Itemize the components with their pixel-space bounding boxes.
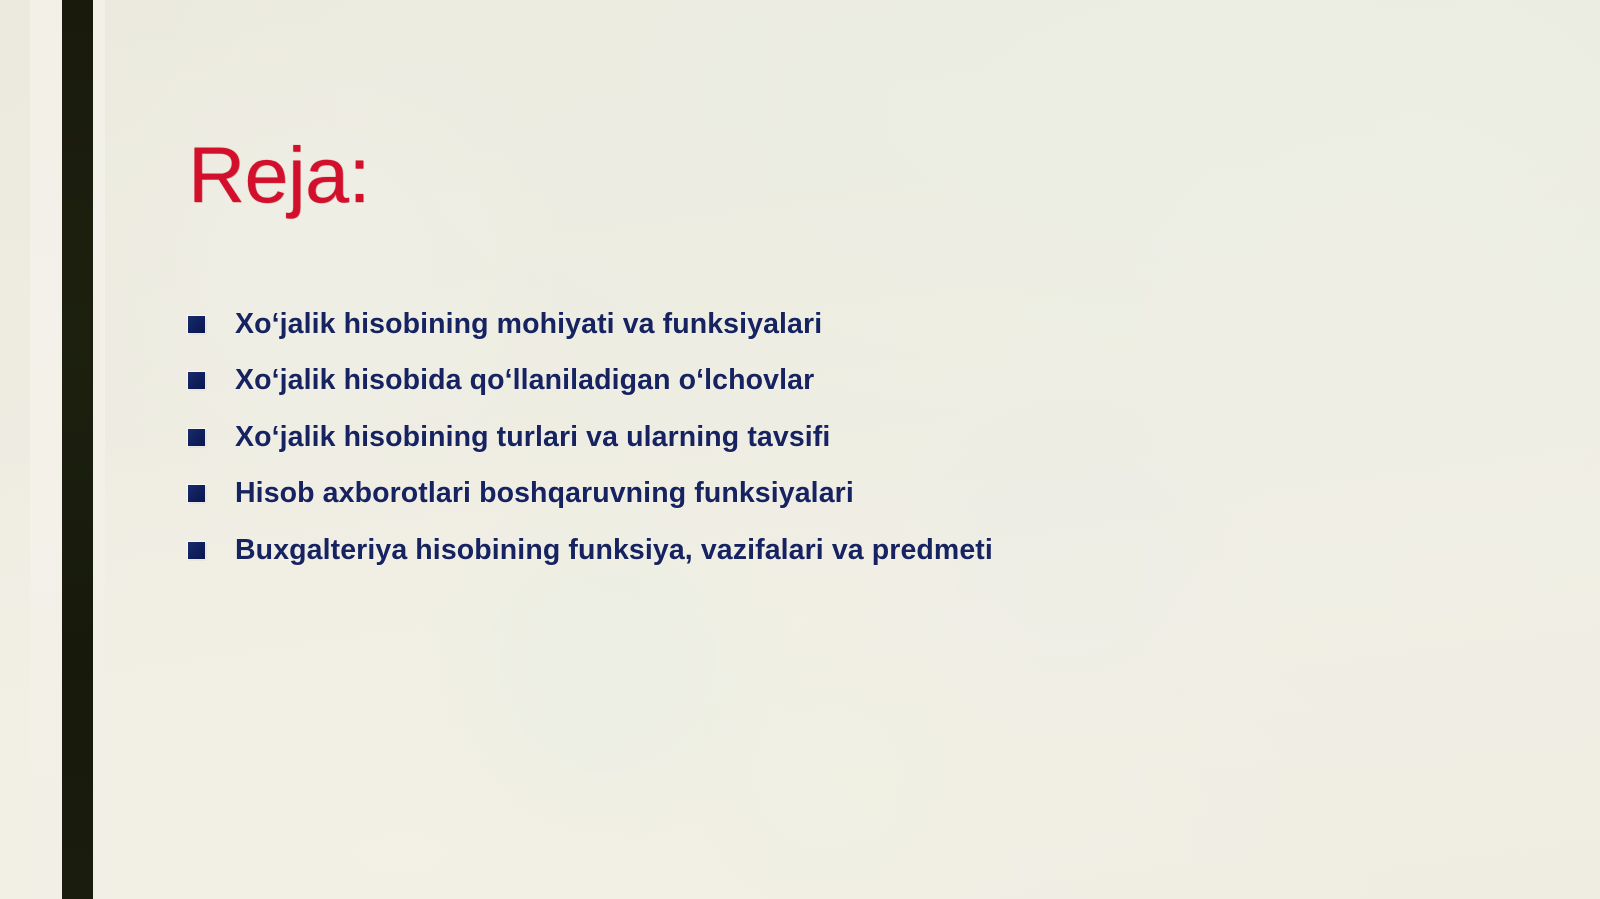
list-item-label: Hisob axborotlari boshqaruvning funksiya… <box>235 477 854 510</box>
decorative-left-accent-bar <box>62 0 93 899</box>
presentation-slide: Reja: Xo‘jalik hisobining mohiyati va fu… <box>0 0 1600 899</box>
square-bullet-icon <box>188 429 205 446</box>
slide-title: Reja: <box>188 135 370 214</box>
list-item: Hisob axborotlari boshqaruvning funksiya… <box>188 466 993 523</box>
square-bullet-icon <box>188 542 205 559</box>
list-item-label: Buxgalteriya hisobining funksiya, vazifa… <box>235 534 993 567</box>
list-item: Xo‘jalik hisobida qo‘llaniladigan o‘lcho… <box>188 353 993 410</box>
square-bullet-icon <box>188 485 205 502</box>
square-bullet-icon <box>188 372 205 389</box>
agenda-bullet-list: Xo‘jalik hisobining mohiyati va funksiya… <box>188 296 993 579</box>
list-item-label: Xo‘jalik hisobining mohiyati va funksiya… <box>235 308 822 341</box>
decorative-left-pale-band <box>30 0 62 899</box>
list-item-label: Xo‘jalik hisobida qo‘llaniladigan o‘lcho… <box>235 364 814 397</box>
decorative-left-highlight-band <box>93 0 105 899</box>
list-item: Xo‘jalik hisobining turlari va ularning … <box>188 409 993 466</box>
list-item: Xo‘jalik hisobining mohiyati va funksiya… <box>188 296 993 353</box>
list-item-label: Xo‘jalik hisobining turlari va ularning … <box>235 421 830 454</box>
square-bullet-icon <box>188 316 205 333</box>
list-item: Buxgalteriya hisobining funksiya, vazifa… <box>188 522 993 579</box>
